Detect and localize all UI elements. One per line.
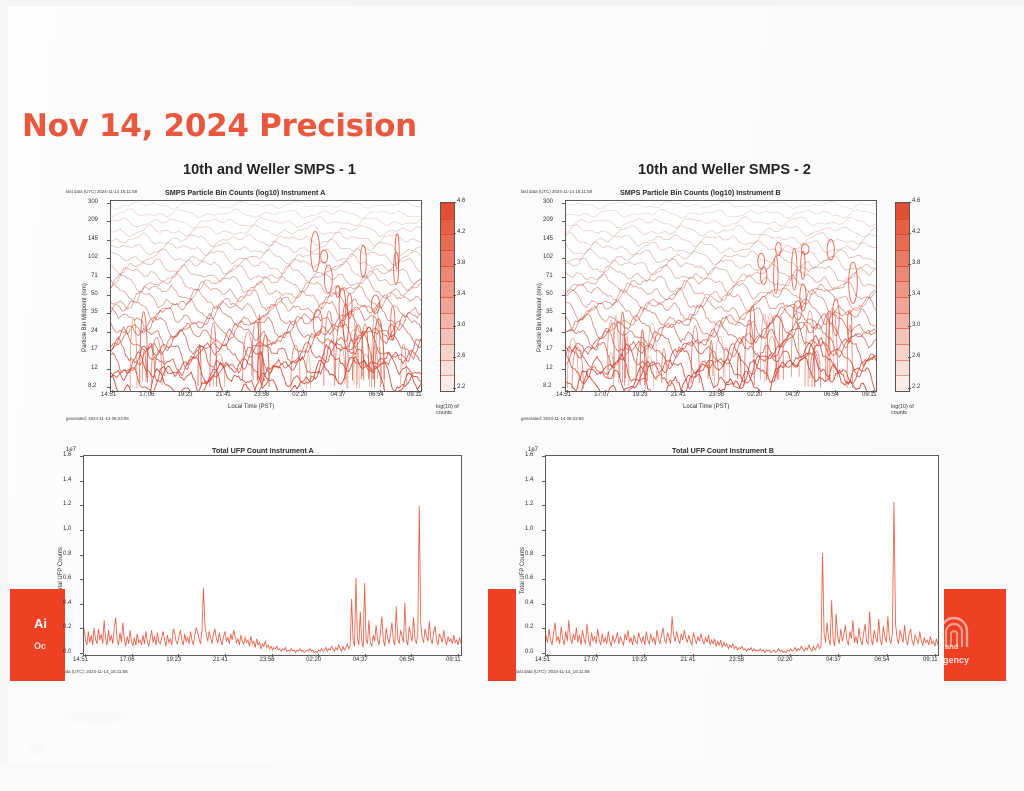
- smps_a-ytickmark: [107, 332, 110, 333]
- smps_b-ytick: 35: [546, 309, 553, 315]
- smps_a-xtick: 23:58: [254, 392, 269, 398]
- smps_a-ytick: 17: [91, 346, 98, 352]
- smps_b-xtick: 23:58: [709, 392, 724, 398]
- ufp_a-xtickmark: [178, 654, 179, 657]
- smps_a-ytickmark: [107, 387, 110, 388]
- smps_b-colorbar-tick: 3.4: [912, 291, 920, 297]
- ufp_b-ytick: 0.6: [525, 575, 533, 581]
- page-title: Nov 14, 2024 Precision: [22, 108, 417, 144]
- smps_b-xtickmark: [567, 390, 568, 393]
- smps_b-colorbar-tick: 2.6: [912, 353, 920, 359]
- smps_b-ytick: 12: [546, 365, 553, 371]
- ufp_b-xtick: 17:07: [584, 657, 599, 663]
- ufp_a-xtickmark: [458, 654, 459, 657]
- smps_b-xtickmark: [835, 390, 836, 393]
- ufp_b-ytickmark: [542, 481, 545, 482]
- smps_b-ytickmark: [562, 295, 565, 296]
- ufp-b-title: Total UFP Count Instrument B: [672, 446, 774, 455]
- ufp_b-ytickmark: [542, 628, 545, 629]
- ufp_b-xtickmark: [693, 654, 694, 657]
- smps_b-ytickmark: [562, 240, 565, 241]
- smps_a-xtickmark: [303, 390, 304, 393]
- ufp_b-xtickmark: [935, 654, 936, 657]
- smps_b-ytickmark: [562, 350, 565, 351]
- ufp_a-ytickmark: [80, 653, 83, 654]
- ufp_b-ytickmark: [542, 555, 545, 556]
- ufp_b-xtick: 04:37: [826, 657, 841, 663]
- ufp_b-ytick: 0.4: [525, 600, 533, 606]
- colorbar-segment: [896, 203, 909, 220]
- ufp_b-ytick: 0.0: [525, 649, 533, 655]
- ufp_a-xtick: 09:11: [446, 657, 461, 663]
- ufp_a-xtick: 04:37: [353, 657, 368, 663]
- colorbar-tickmark: [453, 233, 456, 234]
- ufp_a-xtick: 17:06: [120, 657, 135, 663]
- ufp_a-ytickmark: [80, 579, 83, 580]
- ufp-b-plot-area[interactable]: [545, 455, 939, 656]
- smps_a-ytick: 24: [91, 328, 98, 334]
- smps_a-ytick: 300: [88, 199, 98, 205]
- branding-left-line2: Oc: [34, 641, 46, 651]
- ufp-a-title: Total UFP Count Instrument A: [212, 446, 314, 455]
- smps_b-ytickmark: [562, 277, 565, 278]
- ufp_a-ytickmark: [80, 530, 83, 531]
- ufp_b-ytickmark: [542, 604, 545, 605]
- smps_a-ytick: 145: [88, 236, 98, 242]
- smps_b-xtick: 09:11: [862, 392, 877, 398]
- smps-a-ylabel: Particle Bin Midpoint (nm): [82, 283, 88, 352]
- smps_b-xtick: 02:20: [747, 392, 762, 398]
- colorbar-segment: [896, 375, 909, 392]
- smps_b-ytick: 24: [546, 328, 553, 334]
- ufp_a-ytick: 0.0: [63, 649, 71, 655]
- smps_b-xtick: 04:37: [786, 392, 801, 398]
- scan-edge-bottom: [0, 763, 1024, 791]
- smps_a-xtickmark: [150, 390, 151, 393]
- smps_b-xtickmark: [720, 390, 721, 393]
- colorbar-tickmark: [908, 326, 911, 327]
- colorbar-tickmark: [453, 202, 456, 203]
- ufp_a-xtick: 19:23: [166, 657, 181, 663]
- smps_b-ytickmark: [562, 221, 565, 222]
- smps_b-xtickmark: [873, 390, 874, 393]
- ufp_a-xtickmark: [411, 654, 412, 657]
- ufp_b-ytickmark: [542, 530, 545, 531]
- smps_b-xtickmark: [644, 390, 645, 393]
- ufp_b-xtick: 23:58: [729, 657, 744, 663]
- ufp_b-xtick: 02:20: [778, 657, 793, 663]
- smps_b-xtick: 19:23: [633, 392, 648, 398]
- ufp_a-ytickmark: [80, 604, 83, 605]
- ufp_b-xtickmark: [887, 654, 888, 657]
- ufp_a-ytick: 0.6: [63, 575, 71, 581]
- smps_a-ytick: 50: [91, 291, 98, 297]
- colorbar-segment: [441, 328, 454, 345]
- smps_a-xtick: 14:51: [101, 392, 116, 398]
- ufp_a-xtick: 21:41: [213, 657, 228, 663]
- ufp_b-ytick: 1.2: [525, 501, 533, 507]
- ufp_a-ytick: 1.4: [63, 477, 71, 483]
- colorbar-segment: [441, 344, 454, 361]
- colorbar-segment: [896, 297, 909, 314]
- smps-b-title: SMPS Particle Bin Counts (log10) Instrum…: [620, 188, 781, 197]
- colorbar-tickmark: [908, 388, 911, 389]
- smps_b-colorbar-tick: 4.6: [912, 198, 920, 204]
- smps_b-colorbar-tick: 3.0: [912, 322, 920, 328]
- smps_b-xtick: 21:41: [671, 392, 686, 398]
- ufp_a-ytick: 0.4: [63, 600, 71, 606]
- smps_a-xtickmark: [189, 390, 190, 393]
- smps-a-generated: generated: 2024-11-14 08:23:08: [66, 416, 129, 421]
- colorbar-tickmark: [908, 233, 911, 234]
- smps_a-ytick: 8.2: [88, 383, 96, 389]
- colorbar-segment: [441, 360, 454, 377]
- smps_b-xtickmark: [797, 390, 798, 393]
- colorbar-tickmark: [453, 264, 456, 265]
- branding-left-line1: Ai: [34, 616, 47, 631]
- colorbar-tickmark: [453, 326, 456, 327]
- colorbar-segment: [441, 375, 454, 392]
- smps_a-xtickmark: [265, 390, 266, 393]
- smps_a-ytickmark: [107, 277, 110, 278]
- ufp-a-plot-area[interactable]: [83, 455, 462, 656]
- smps_b-ytick: 300: [543, 199, 553, 205]
- ufp_b-ytickmark: [542, 505, 545, 506]
- smps_b-ytickmark: [562, 313, 565, 314]
- ufp_b-xtickmark: [547, 654, 548, 657]
- smps_a-xtick: 19:23: [178, 392, 193, 398]
- smps_a-ytickmark: [107, 369, 110, 370]
- smps-b-plot-area[interactable]: [565, 200, 877, 392]
- smps_b-ytickmark: [562, 332, 565, 333]
- smps_a-xtick: 09:11: [407, 392, 422, 398]
- colorbar-segment: [896, 360, 909, 377]
- smps_b-xtickmark: [605, 390, 606, 393]
- smps_a-colorbar-tick: 4.2: [457, 229, 465, 235]
- smps_a-colorbar-tick: 4.6: [457, 198, 465, 204]
- smps-a-colorbar-caption: log(10) of counts: [436, 404, 474, 416]
- smps-b-colorbar-caption: log(10) of counts: [891, 404, 929, 416]
- ufp_b-ytick: 1.4: [525, 477, 533, 483]
- scan-edge-top: [0, 0, 1024, 6]
- ufp_a-ytick: 0.2: [63, 624, 71, 630]
- smps_b-ytick: 209: [543, 217, 553, 223]
- smps-b-generated: generated: 2024-11-14 08:23:56: [521, 416, 584, 421]
- ufp_a-ytickmark: [80, 481, 83, 482]
- smps_b-xtickmark: [758, 390, 759, 393]
- colorbar-segment: [896, 266, 909, 283]
- ufp_a-ytick: 1.6: [63, 452, 71, 458]
- smps_b-colorbar-tick: 3.8: [912, 260, 920, 266]
- ufp_a-xtickmark: [365, 654, 366, 657]
- ufp_b-xtick: 21:41: [681, 657, 696, 663]
- smps_a-ytickmark: [107, 240, 110, 241]
- smps_a-xtickmark: [227, 390, 228, 393]
- smps_b-ytickmark: [562, 387, 565, 388]
- smps_a-xtickmark: [418, 390, 419, 393]
- ufp_b-xtickmark: [838, 654, 839, 657]
- smps_b-ytick: 17: [546, 346, 553, 352]
- smps_a-ytick: 12: [91, 365, 98, 371]
- ufp_b-xtick: 06:54: [875, 657, 890, 663]
- smps_a-xtick: 21:41: [216, 392, 231, 398]
- smps_a-ytick: 102: [88, 254, 98, 260]
- colorbar-segment: [441, 297, 454, 314]
- smps-a-plot-area[interactable]: [110, 200, 422, 392]
- ufp_b-ytickmark: [542, 579, 545, 580]
- smps-b-colorbar: [895, 202, 910, 392]
- smps_a-ytickmark: [107, 295, 110, 296]
- ufp_b-ytickmark: [542, 456, 545, 457]
- smps_b-ytick: 8.2: [543, 383, 551, 389]
- ufp_b-line-series: [546, 456, 938, 655]
- ufp_b-xtick: 09:11: [923, 657, 938, 663]
- smps_a-xtick: 02:20: [292, 392, 307, 398]
- smps_a-ytickmark: [107, 221, 110, 222]
- branding-right-line2: gency: [943, 655, 969, 665]
- smps_b-ytickmark: [562, 258, 565, 259]
- ufp_a-ytick: 0.8: [63, 551, 71, 557]
- colorbar-segment: [896, 328, 909, 345]
- smps_b-ytick: 145: [543, 236, 553, 242]
- ufp_a-xtickmark: [85, 654, 86, 657]
- smps_a-colorbar-tick: 3.8: [457, 260, 465, 266]
- smps_a-colorbar-tick: 2.6: [457, 353, 465, 359]
- colorbar-segment: [896, 344, 909, 361]
- ufp_a-ytickmark: [80, 456, 83, 457]
- ufp_a-ytick: 1.0: [63, 526, 71, 532]
- smps_a-ytickmark: [107, 313, 110, 314]
- smps_a-ytick: 209: [88, 217, 98, 223]
- smps_a-xtickmark: [380, 390, 381, 393]
- colorbar-tickmark: [908, 357, 911, 358]
- smps_b-contours: [566, 201, 876, 391]
- smps_b-ytick: 50: [546, 291, 553, 297]
- colorbar-segment: [441, 234, 454, 251]
- ufp_b-xtick: 14:51: [535, 657, 550, 663]
- ufp_a-line-series: [84, 456, 461, 655]
- smps_b-colorbar-tick: 4.2: [912, 229, 920, 235]
- smps-b-ylabel: Particle Bin Midpoint (nm): [537, 283, 543, 352]
- colorbar-tickmark: [453, 295, 456, 296]
- ufp_b-xtickmark: [741, 654, 742, 657]
- smps_a-xtick: 04:37: [331, 392, 346, 398]
- colorbar-tickmark: [453, 388, 456, 389]
- smps_a-xtick: 06:54: [369, 392, 384, 398]
- ufp_a-xtickmark: [132, 654, 133, 657]
- smps_b-ytickmark: [562, 203, 565, 204]
- colorbar-tickmark: [908, 295, 911, 296]
- colorbar-segment: [441, 203, 454, 220]
- scan-smudge: [30, 745, 46, 753]
- panel-heading-right: 10th and Weller SMPS - 2: [638, 162, 811, 178]
- ufp_a-xtick: 02:20: [306, 657, 321, 663]
- smps_a-ytickmark: [107, 203, 110, 204]
- scan-smudge: [60, 712, 130, 722]
- ufp_a-xtickmark: [225, 654, 226, 657]
- smps_a-colorbar-tick: 3.4: [457, 291, 465, 297]
- ufp_a-ytickmark: [80, 555, 83, 556]
- ufp_b-ytick: 0.2: [525, 624, 533, 630]
- smps-a-title: SMPS Particle Bin Counts (log10) Instrum…: [165, 188, 325, 197]
- smps_b-xtick: 06:54: [824, 392, 839, 398]
- colorbar-tickmark: [908, 264, 911, 265]
- smps_b-xtick: 14:51: [556, 392, 571, 398]
- smps_a-colorbar-tick: 2.2: [457, 384, 465, 390]
- colorbar-segment: [896, 234, 909, 251]
- smps_a-xtick: 17:06: [139, 392, 154, 398]
- smps_a-contours: [111, 201, 421, 391]
- ufp_a-ytick: 1.2: [63, 501, 71, 507]
- smps_b-xtick: 17:07: [594, 392, 609, 398]
- ufp_a-xtick: 06:54: [399, 657, 414, 663]
- panel-heading-left: 10th and Weller SMPS - 1: [183, 162, 356, 178]
- ufp_a-ytickmark: [80, 628, 83, 629]
- ufp_a-xtickmark: [272, 654, 273, 657]
- branding-block-right: and gency: [944, 589, 1006, 681]
- smps-b-xlabel: Local Time (PST): [683, 404, 729, 410]
- ufp_b-ytick: 1.0: [525, 526, 533, 532]
- colorbar-tickmark: [453, 357, 456, 358]
- smps_b-ytick: 102: [543, 254, 553, 260]
- smps-b-last-data: last data (UTC) 2024-11-14 16:11:58: [521, 189, 592, 194]
- smps_b-ytickmark: [562, 369, 565, 370]
- smps_b-xtickmark: [682, 390, 683, 393]
- smps_b-ytick: 71: [546, 273, 553, 279]
- ufp_b-ytick: 0.8: [525, 551, 533, 557]
- ufp_b-xtickmark: [644, 654, 645, 657]
- ufp-b-last-data: last data (UTC): 2024-11-14_16:11:58: [516, 669, 590, 674]
- branding-right-line1: and: [945, 642, 958, 651]
- colorbar-tickmark: [908, 202, 911, 203]
- ufp_b-ytick: 1.6: [525, 452, 533, 458]
- ufp_a-xtick: 23:58: [260, 657, 275, 663]
- ufp_b-ytickmark: [542, 653, 545, 654]
- branding-block-left: Ai Oc: [10, 589, 65, 681]
- smps_a-xtickmark: [342, 390, 343, 393]
- branding-block-middle: [488, 589, 516, 681]
- smps-a-colorbar: [440, 202, 455, 392]
- smps_a-ytick: 71: [91, 273, 98, 279]
- smps_a-colorbar-tick: 3.0: [457, 322, 465, 328]
- ufp_a-ytickmark: [80, 505, 83, 506]
- smps_a-ytickmark: [107, 258, 110, 259]
- ufp-a-last-data: last data (UTC): 2024-11-14_16:11:58: [54, 669, 128, 674]
- smps_a-ytick: 35: [91, 309, 98, 315]
- smps_b-colorbar-tick: 2.2: [912, 384, 920, 390]
- ufp_b-xtick: 19:23: [632, 657, 647, 663]
- smps_a-ytickmark: [107, 350, 110, 351]
- ufp_b-xtickmark: [790, 654, 791, 657]
- smps-a-xlabel: Local Time (PST): [228, 404, 274, 410]
- ufp_a-xtickmark: [318, 654, 319, 657]
- ufp_b-xtickmark: [596, 654, 597, 657]
- colorbar-segment: [441, 266, 454, 283]
- smps-a-last-data: last data (UTC) 2024-11-14 16:11:58: [66, 189, 137, 194]
- ufp_a-xtick: 14:51: [73, 657, 88, 663]
- scan-edge-left: [0, 0, 8, 791]
- smps_a-xtickmark: [112, 390, 113, 393]
